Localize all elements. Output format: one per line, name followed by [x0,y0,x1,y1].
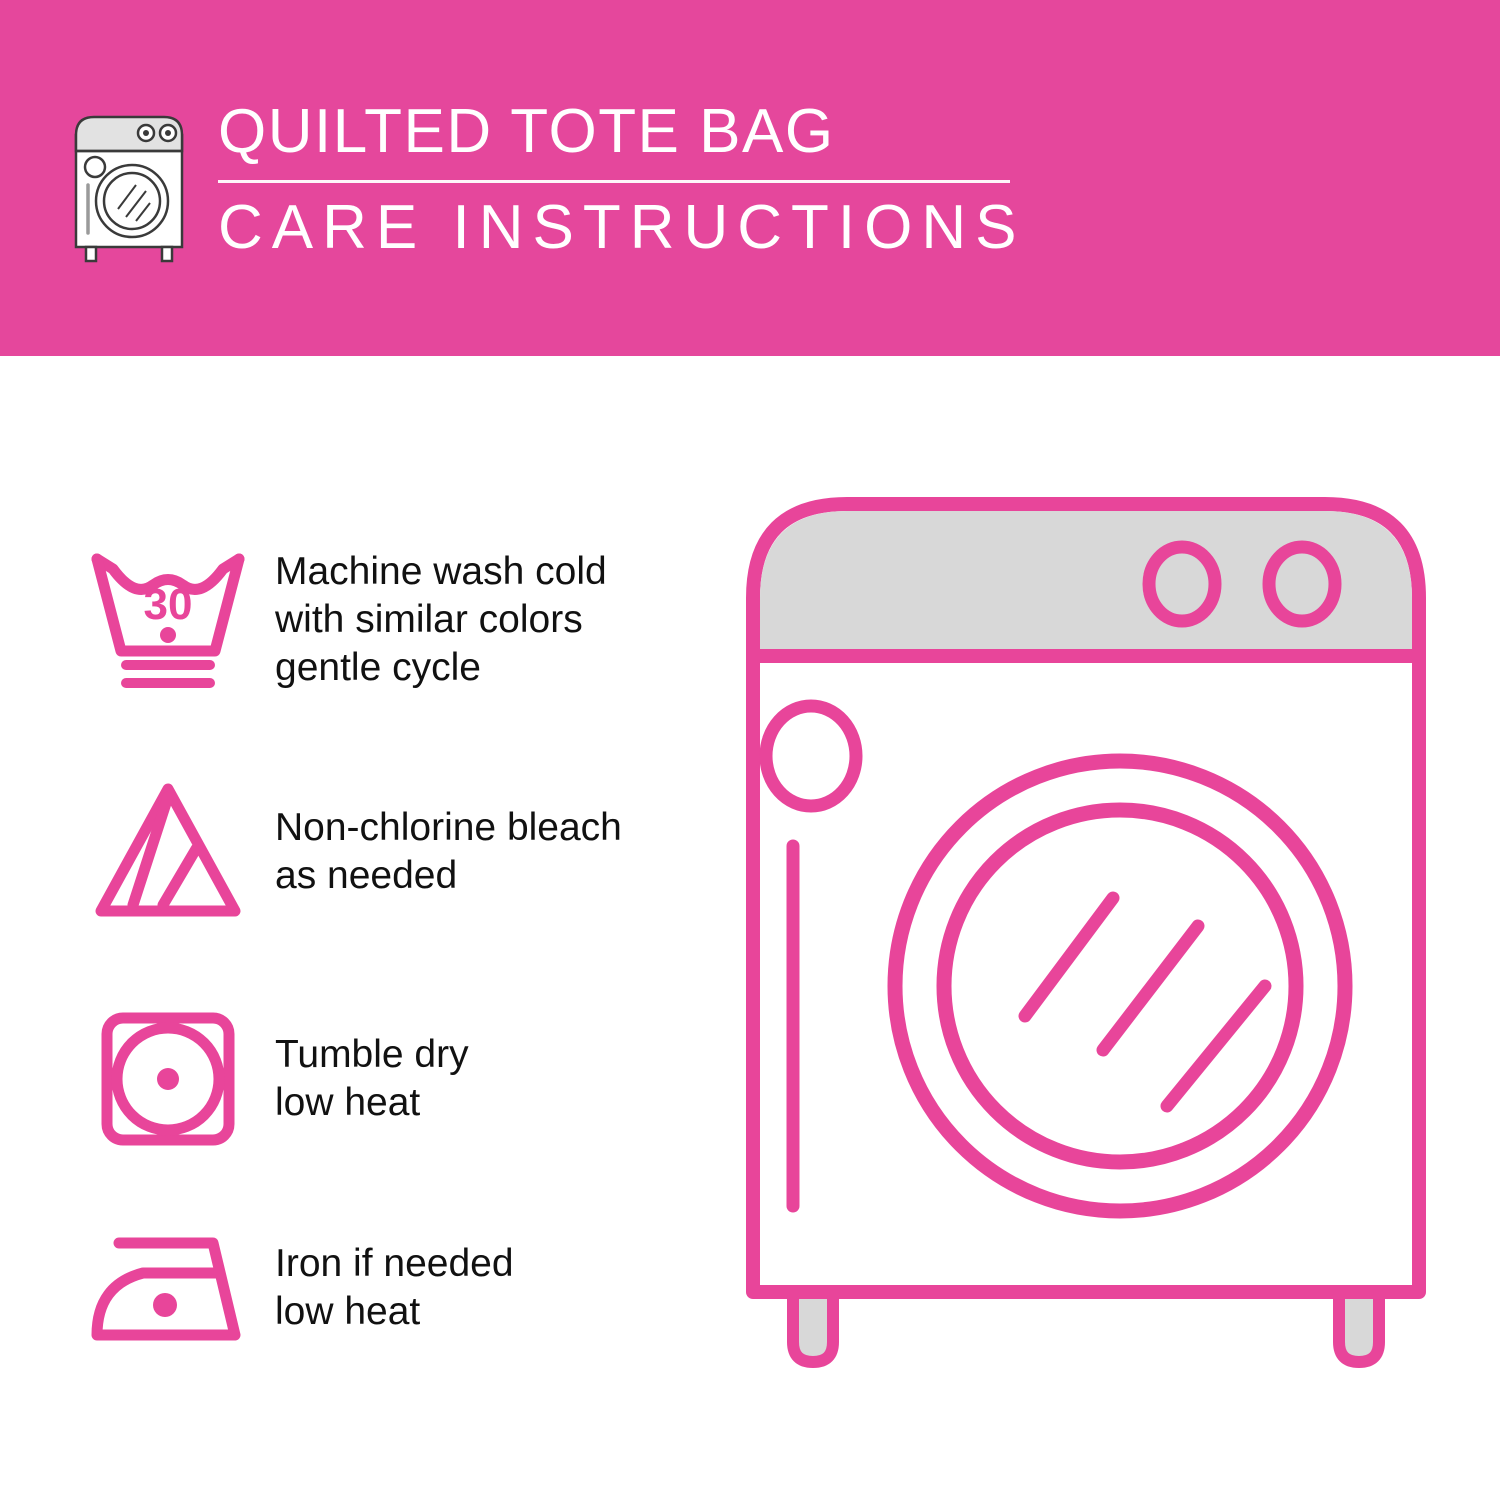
care-line: gentle cycle [275,644,607,692]
iron-low-heat-icon [60,1223,275,1353]
care-line: low heat [275,1288,514,1336]
header-divider [218,180,1010,183]
care-item-label: Machine wash cold with similar colors ge… [275,548,607,692]
care-item-bleach: Non-chlorine bleach as needed [60,734,720,970]
wash-tub-30-icon: 30 [60,547,275,693]
page-subtitle: CARE INSTRUCTIONS [218,195,1018,261]
care-item-iron: Iron if needed low heat [60,1188,720,1388]
care-line: as needed [275,852,622,900]
care-instruction-list: 30 Machine wash cold with similar colors… [60,506,720,1388]
care-line: Tumble dry [275,1031,469,1079]
care-item-machine-wash: 30 Machine wash cold with similar colors… [60,506,720,734]
care-item-label: Iron if needed low heat [275,1240,514,1336]
non-chlorine-bleach-triangle-icon [60,777,275,927]
care-line: Non-chlorine bleach [275,804,622,852]
knob-right [1269,547,1335,621]
wash-temperature-label: 30 [143,580,192,629]
page-title: QUILTED TOTE BAG [218,98,1018,166]
care-line: Iron if needed [275,1240,514,1288]
care-line: with similar colors [275,596,607,644]
care-instructions-page: QUILTED TOTE BAG CARE INSTRUCTIONS 30 [0,0,1500,1500]
main-content: 30 Machine wash cold with similar colors… [0,356,1500,1500]
header-banner: QUILTED TOTE BAG CARE INSTRUCTIONS [0,0,1500,356]
front-load-washing-machine-illustration [735,486,1455,1436]
care-item-label: Non-chlorine bleach as needed [275,804,622,900]
care-item-label: Tumble dry low heat [275,1031,469,1127]
care-line: low heat [275,1079,469,1127]
care-item-tumble-dry: Tumble dry low heat [60,970,720,1188]
detergent-dispenser [766,706,856,806]
washing-machine-icon [62,105,202,267]
header-text-block: QUILTED TOTE BAG CARE INSTRUCTIONS [218,98,1018,261]
knob-left [1149,547,1215,621]
tumble-dry-low-icon [60,1004,275,1154]
care-line: Machine wash cold [275,548,607,596]
